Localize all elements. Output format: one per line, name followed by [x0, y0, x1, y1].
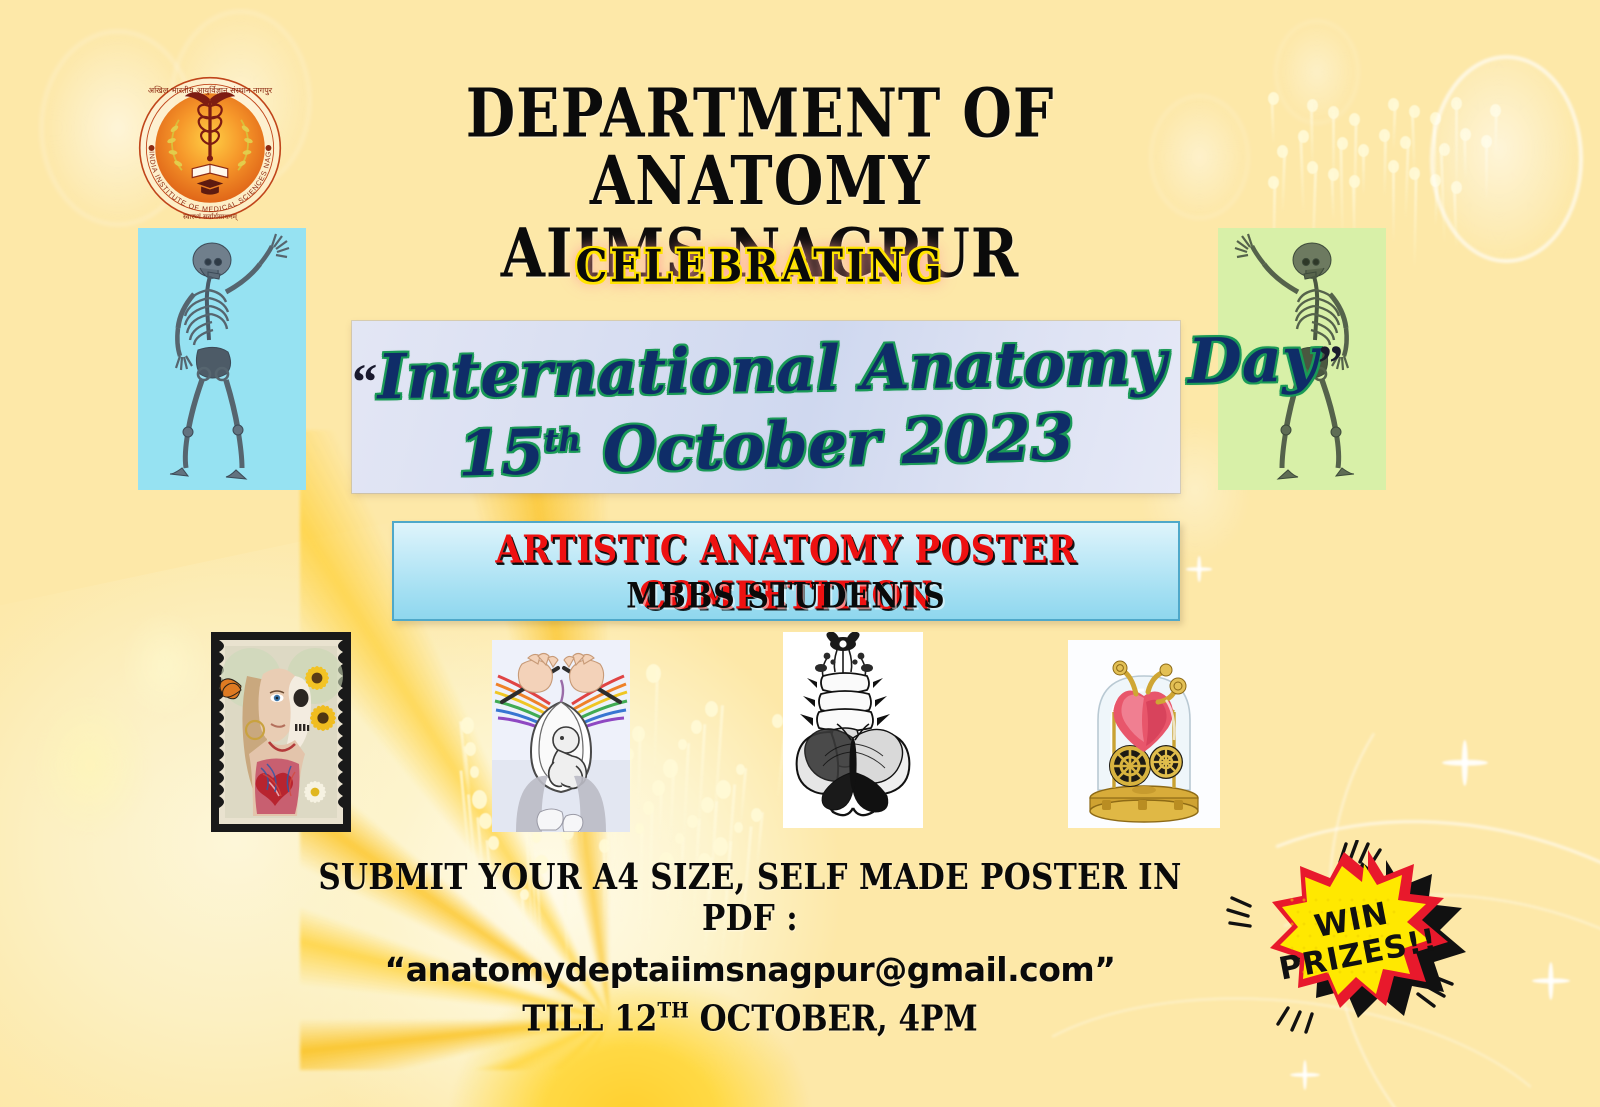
- stamen-head: [1451, 97, 1462, 110]
- deadline-ordinal: TH: [657, 999, 688, 1023]
- stamen-stalk: [1310, 103, 1314, 167]
- stamen-head: [691, 720, 702, 734]
- close-quote: ”: [1317, 335, 1343, 391]
- stamen-head: [1460, 128, 1471, 141]
- stamen-stalk: [1485, 139, 1488, 203]
- stamen-head: [461, 717, 474, 733]
- stamen-stalk: [1411, 109, 1416, 173]
- stamen-head: [488, 836, 499, 850]
- event-date-ordinal: th: [544, 423, 582, 460]
- stamen-head: [772, 714, 783, 728]
- celebrating-label: CELEBRATING: [300, 240, 1220, 293]
- submission-deadline: TILL 12TH OCTOBER, 4PM: [280, 998, 1220, 1039]
- deadline-prefix: TILL 12: [522, 998, 657, 1039]
- stamen-head: [1379, 129, 1390, 142]
- stamen-head: [1388, 98, 1399, 111]
- department-line: DEPARTMENT OF ANATOMY: [300, 80, 1220, 215]
- event-title-banner: “International Anatomy Day” 15th October…: [352, 321, 1180, 493]
- submission-details: SUBMIT YOUR A4 SIZE, SELF MADE POSTER IN…: [280, 862, 1220, 1037]
- stamen-head: [1268, 176, 1279, 189]
- stamen-head: [1307, 99, 1318, 112]
- stamen-head: [1358, 144, 1369, 157]
- event-date-rest: October 2023: [580, 400, 1075, 487]
- open-quote: “: [352, 353, 378, 409]
- stamen-stalk: [1440, 147, 1446, 243]
- aiims-nagpur-logo: अखिल भारतीय आयुर्विज्ञान संस्थान नागपुर …: [136, 74, 284, 222]
- stamen-head: [1268, 92, 1279, 105]
- stamen-head: [734, 822, 743, 833]
- stamen-stalk: [1339, 141, 1344, 237]
- stamen-head: [643, 801, 654, 815]
- stamen-head: [1439, 143, 1450, 156]
- win-prizes-badge: WIN PRIZES!!: [1222, 840, 1488, 1036]
- stamen-head: [1328, 106, 1339, 119]
- competition-banner: ARTISTIC ANATOMY POSTER COMPETITION MBBS…: [392, 521, 1180, 621]
- stamen-head: [635, 823, 644, 834]
- stamen-stalk: [1281, 149, 1286, 213]
- stamen-head: [1430, 174, 1441, 187]
- stamen-head: [701, 797, 714, 813]
- event-date-day: 15: [457, 415, 545, 490]
- stamen-head: [1409, 105, 1420, 118]
- stamen-head: [632, 726, 645, 742]
- poster-canvas: अखिल भारतीय आयुर्विज्ञान संस्थान नागपुर …: [0, 0, 1600, 1107]
- skeleton-image-left: [138, 228, 306, 490]
- stamen-head: [470, 766, 479, 777]
- stamen-head: [1277, 145, 1288, 158]
- stamen-head: [1451, 181, 1462, 194]
- stamen-stalk: [1404, 140, 1410, 220]
- artwork-thumbnail-hands-fetus: [492, 640, 630, 832]
- artwork-thumbnail-woman-skull: [211, 632, 351, 832]
- submission-email[interactable]: “anatomydeptaiimsnagpur@gmail.com”: [280, 950, 1220, 989]
- stamen-head: [663, 759, 678, 778]
- stamen-head: [736, 764, 745, 775]
- stamen-stalk: [1413, 171, 1418, 267]
- deadline-suffix: OCTOBER, 4PM: [689, 998, 978, 1039]
- stamen-stalk: [1392, 164, 1395, 244]
- stamen-head: [1400, 136, 1411, 149]
- svg-text:अखिल भारतीय आयुर्विज्ञान संस्थ: अखिल भारतीय आयुर्विज्ञान संस्थान नागपुर: [148, 85, 273, 96]
- stamen-head: [1490, 104, 1501, 117]
- stamen-head: [1430, 112, 1441, 125]
- stamen-head: [1328, 168, 1339, 181]
- stamen-head: [716, 780, 731, 799]
- sparkle-4: [1186, 556, 1212, 582]
- stamen-head: [1298, 130, 1309, 143]
- competition-audience: MBBS STUDENTS: [394, 577, 1178, 617]
- stamen-stalk: [1299, 134, 1305, 214]
- event-date-line: 15th October 2023: [351, 397, 1181, 493]
- stamen-head: [1349, 113, 1360, 126]
- stamen-stalk: [1383, 133, 1387, 197]
- stamen-head: [1481, 135, 1492, 148]
- submission-instruction: SUBMIT YOUR A4 SIZE, SELF MADE POSTER IN…: [280, 857, 1220, 940]
- stamen-head: [675, 833, 684, 844]
- bokeh-waterdrop: [1430, 55, 1583, 263]
- artwork-thumbnail-steampunk-heart-dome: [1068, 640, 1220, 828]
- stamen-head: [472, 790, 487, 809]
- artwork-thumbnail-pelvis-butterfly: [783, 632, 923, 828]
- stamen-head: [1307, 161, 1318, 174]
- stamen-head: [465, 742, 476, 756]
- stamen-head: [1409, 167, 1420, 180]
- stamen-head: [1337, 137, 1348, 150]
- stamen-head: [1349, 175, 1360, 188]
- stamen-head: [1388, 160, 1399, 173]
